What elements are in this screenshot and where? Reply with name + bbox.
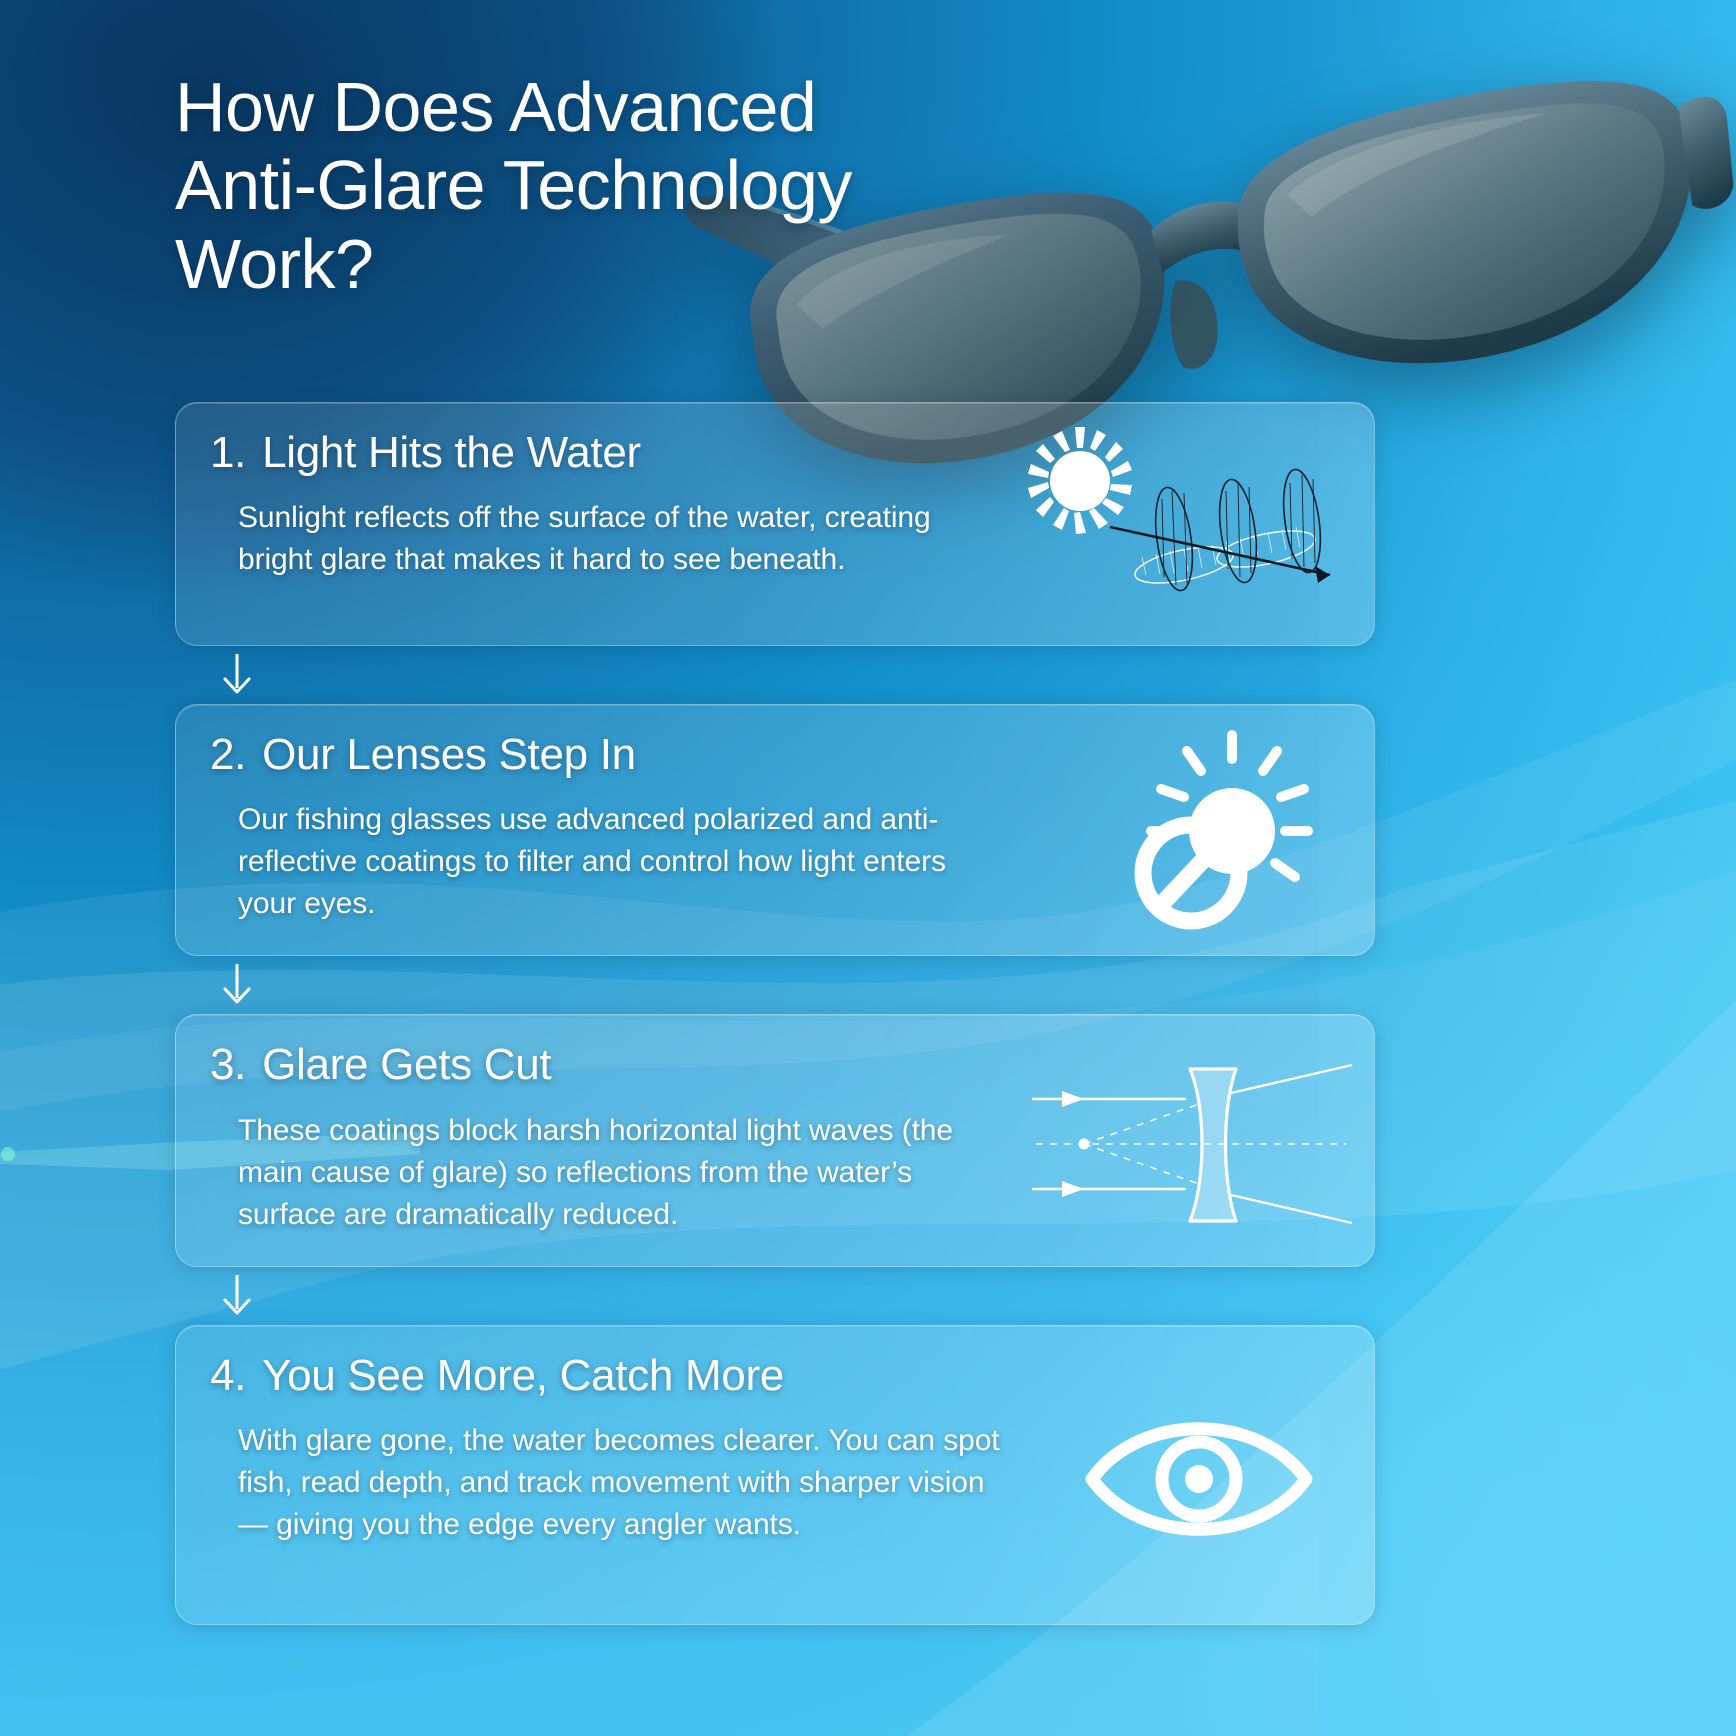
connector-2 xyxy=(175,956,1375,1014)
step-3-title: Glare Gets Cut xyxy=(262,1041,551,1089)
eye-icon xyxy=(1084,1404,1314,1554)
page-title: How Does Advanced Anti-Glare Technology … xyxy=(175,68,1185,303)
connector-3 xyxy=(175,1267,1375,1325)
step-4-title: You See More, Catch More xyxy=(262,1352,784,1400)
infographic-canvas: How Does Advanced Anti-Glare Technology … xyxy=(0,0,1736,1736)
connector-1 xyxy=(175,646,1375,704)
step-2-body: Our fishing glasses use advanced polariz… xyxy=(210,799,1010,925)
step-1-heading: 1. Light Hits the Water xyxy=(210,429,1340,477)
steps-list: 1. Light Hits the Water Sunlight reflect… xyxy=(175,402,1375,1625)
step-1-number: 1. xyxy=(210,429,246,477)
step-4-heading: 4. You See More, Catch More xyxy=(210,1352,1340,1400)
step-3-number: 3. xyxy=(210,1041,246,1089)
infographic-content: How Does Advanced Anti-Glare Technology … xyxy=(0,0,1736,1736)
step-1-title: Light Hits the Water xyxy=(262,429,641,477)
step-card-2[interactable]: 2. Our Lenses Step In Our fishing glasse… xyxy=(175,704,1375,956)
step-4-number: 4. xyxy=(210,1352,246,1400)
step-3-heading: 3. Glare Gets Cut xyxy=(210,1041,1340,1089)
down-arrow-icon xyxy=(215,652,259,698)
step-1-body: Sunlight reflects off the surface of the… xyxy=(210,497,1010,581)
step-2-title: Our Lenses Step In xyxy=(262,731,636,779)
down-arrow-icon xyxy=(215,962,259,1008)
step-2-heading: 2. Our Lenses Step In xyxy=(210,731,1340,779)
step-card-1[interactable]: 1. Light Hits the Water Sunlight reflect… xyxy=(175,402,1375,646)
step-4-body: With glare gone, the water becomes clear… xyxy=(210,1420,1010,1546)
step-card-4[interactable]: 4. You See More, Catch More With glare g… xyxy=(175,1325,1375,1625)
step-2-number: 2. xyxy=(210,731,246,779)
step-3-body: These coatings block harsh horizontal li… xyxy=(210,1110,1010,1236)
step-card-3[interactable]: 3. Glare Gets Cut These coatings block h… xyxy=(175,1014,1375,1266)
down-arrow-icon xyxy=(215,1273,259,1319)
